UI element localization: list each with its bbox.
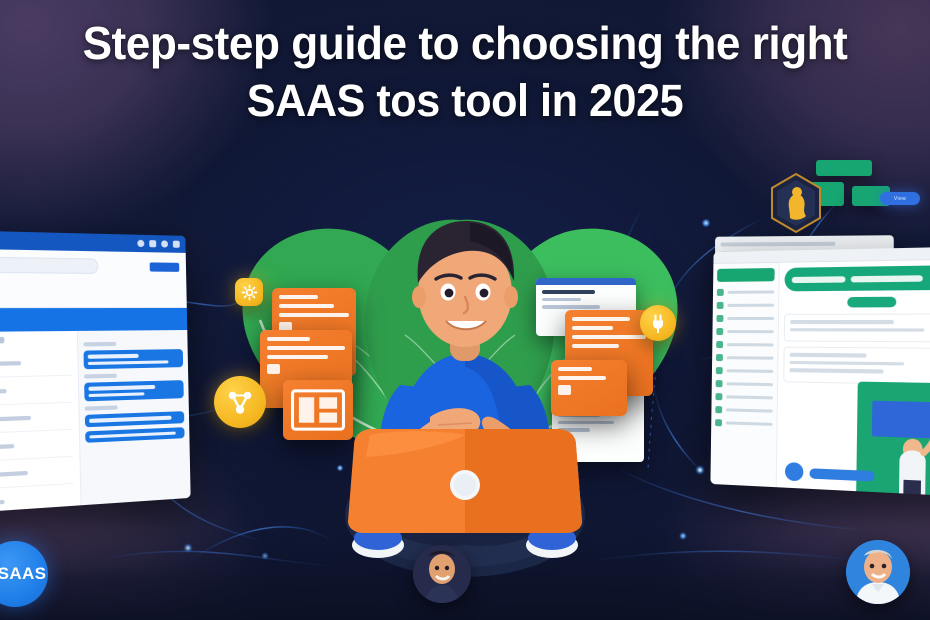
bell-icon[interactable] xyxy=(137,240,144,247)
record-list[interactable] xyxy=(0,331,81,514)
avatar-right-bottom[interactable] xyxy=(846,540,910,604)
avatar xyxy=(846,540,910,604)
award-hex-badge-icon[interactable] xyxy=(768,172,824,234)
record-list-header xyxy=(0,337,4,344)
left-dashboard-toolbar xyxy=(0,248,187,308)
title-line-1: Step-step guide to choosing the right xyxy=(19,14,912,72)
avatar xyxy=(413,545,471,603)
chat-fab-button[interactable] xyxy=(785,462,804,481)
sidebar-item[interactable] xyxy=(715,419,772,428)
window-line xyxy=(721,242,836,247)
left-dashboard-window[interactable] xyxy=(0,230,191,514)
info-card[interactable] xyxy=(783,347,930,385)
settings-icon[interactable] xyxy=(161,240,168,247)
bottom-cta-button[interactable] xyxy=(809,468,874,481)
share-network-icon xyxy=(225,387,255,417)
network-share-badge-icon[interactable] xyxy=(214,376,266,428)
sidebar-item[interactable] xyxy=(717,288,775,296)
chat-bubble xyxy=(84,380,184,401)
saas-badge-label: SAAS xyxy=(0,564,46,584)
title-line-2: SAAS tos tool in 2025 xyxy=(19,72,912,130)
chat-bubble xyxy=(83,349,183,369)
sidebar-item[interactable] xyxy=(717,315,775,322)
sidebar-item[interactable] xyxy=(716,328,774,335)
cta-pill-button[interactable] xyxy=(847,297,896,308)
gear-icon xyxy=(241,284,258,301)
app-logo xyxy=(717,268,775,282)
table-row[interactable] xyxy=(0,349,72,379)
plug-badge-icon[interactable] xyxy=(640,305,676,341)
sidebar-item[interactable] xyxy=(715,393,772,401)
hero-title: Step-step guide to choosing the right SA… xyxy=(0,14,930,130)
conversation-label xyxy=(83,342,116,347)
green-chip xyxy=(816,160,872,176)
app-content xyxy=(777,260,930,497)
sidebar-item[interactable] xyxy=(716,341,773,348)
right-app-window[interactable] xyxy=(710,247,930,497)
conversation-pane[interactable] xyxy=(77,330,191,514)
sidebar-item[interactable] xyxy=(717,302,775,309)
sidebar-item[interactable] xyxy=(716,367,773,375)
conversation-label xyxy=(85,405,118,410)
top-right-pill-button[interactable]: View xyxy=(880,192,920,205)
card-thumb-icon xyxy=(267,364,280,374)
search-input[interactable] xyxy=(0,256,98,274)
promo-banner[interactable] xyxy=(784,265,930,291)
info-card[interactable] xyxy=(784,313,930,342)
sidebar-item[interactable] xyxy=(716,354,773,362)
person-with-laptop xyxy=(320,185,610,585)
chat-bubble xyxy=(85,411,184,427)
left-dashboard-section-header xyxy=(0,308,187,332)
user-icon[interactable] xyxy=(173,241,180,248)
app-sidebar[interactable] xyxy=(710,263,779,488)
sidebar-item[interactable] xyxy=(716,380,773,388)
sidebar-item[interactable] xyxy=(715,406,772,415)
plug-icon xyxy=(648,313,668,333)
cart-icon[interactable] xyxy=(149,240,156,247)
hero-illustration: View SAAS Step-step guide to choosing xyxy=(0,0,930,620)
avatar-center-bottom[interactable] xyxy=(413,545,471,603)
chat-bubble xyxy=(85,427,184,443)
gear-badge-icon[interactable] xyxy=(235,278,263,306)
table-row[interactable] xyxy=(0,376,72,407)
pill-button-label: View xyxy=(894,196,906,202)
primary-action-button[interactable] xyxy=(150,262,180,271)
conversation-label xyxy=(84,374,117,379)
